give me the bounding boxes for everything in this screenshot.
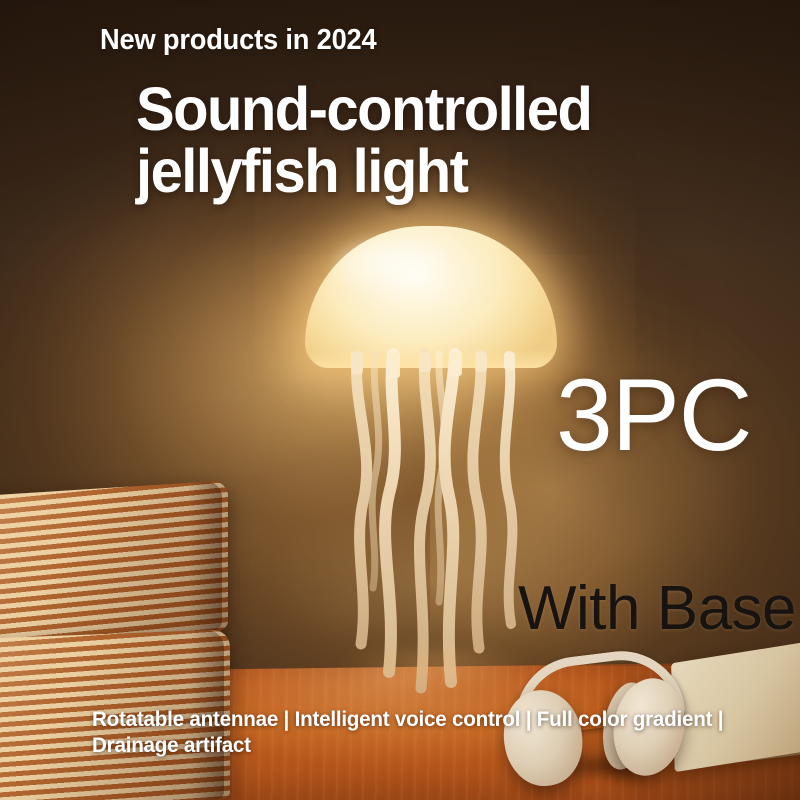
quantity-badge: 3PC xyxy=(556,364,751,466)
ad-text-layer: New products in 2024 Sound-controlled je… xyxy=(0,0,800,800)
headline-line-1: Sound-controlled xyxy=(136,78,591,140)
feature-list-text: Rotatable antennae | Intelligent voice c… xyxy=(92,706,726,758)
page-title: Sound-controlled jellyfish light xyxy=(136,78,591,202)
headline-line-2: jellyfish light xyxy=(136,140,591,202)
eyebrow-text: New products in 2024 xyxy=(100,24,377,56)
with-base-badge: With Base xyxy=(518,578,796,640)
product-ad-banner: New products in 2024 Sound-controlled je… xyxy=(0,0,800,800)
